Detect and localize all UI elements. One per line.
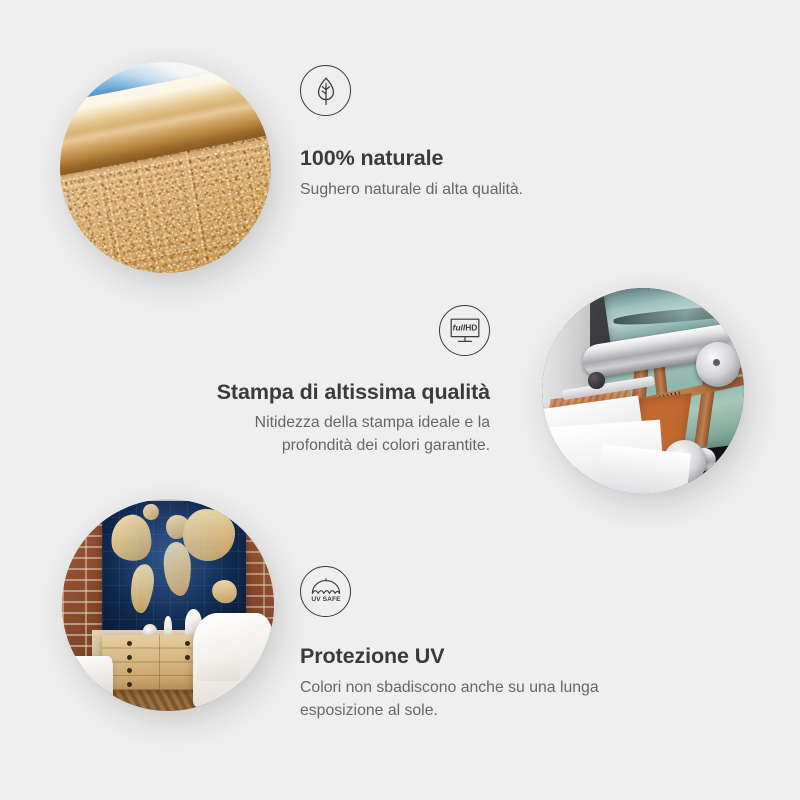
room-photo-armchair-right	[193, 613, 274, 706]
leaf-icon	[300, 65, 351, 116]
uv-safe-icon-label: UV SAFE	[311, 596, 341, 603]
promo-features-panel: 100% naturale Sughero naturale di alta q…	[0, 0, 800, 800]
dresser-knob	[127, 682, 132, 687]
feature-description: Colori non sbadiscono anche su una lunga…	[300, 677, 680, 723]
printer-photo-inner	[542, 288, 744, 494]
cork-board-closeup-photo	[60, 62, 271, 273]
feature-block-natural: 100% naturale Sughero naturale di alta q…	[300, 65, 523, 202]
fullhd-icon-wrapper: fullHD	[190, 305, 490, 356]
room-photo-armchair-left	[66, 656, 113, 703]
feature-description: Nitidezza della stampa ideale e la profo…	[190, 412, 490, 458]
feature-block-uv-protection: UV SAFE Protezione UV Colori non sbadisc…	[300, 566, 680, 723]
printer-photo-roller-hub	[696, 342, 740, 387]
feature-block-print-quality: fullHD Stampa di altissima qualità Nitid…	[190, 305, 490, 458]
feature-description: Sughero naturale di alta qualità.	[300, 179, 523, 201]
room-photo-inner	[62, 499, 274, 711]
dresser-knob	[127, 668, 132, 673]
feature-title: 100% naturale	[300, 146, 523, 171]
living-room-world-map-photo	[62, 499, 274, 711]
fullhd-monitor-icon: fullHD	[439, 305, 490, 356]
feature-title: Protezione UV	[300, 644, 680, 669]
dresser-knob	[185, 641, 190, 646]
fullhd-icon-label-full: fullHD	[452, 322, 477, 332]
printing-machine-photo	[542, 288, 744, 494]
printer-photo-knob	[588, 372, 604, 388]
dresser-knob	[185, 655, 190, 660]
feature-title: Stampa di altissima qualità	[190, 380, 490, 405]
dresser-knob	[127, 641, 132, 646]
dresser-knob	[127, 655, 132, 660]
printer-photo-front-cover	[596, 444, 691, 494]
cork-photo-inner	[60, 62, 271, 273]
uv-safe-umbrella-icon: UV SAFE	[300, 566, 351, 617]
